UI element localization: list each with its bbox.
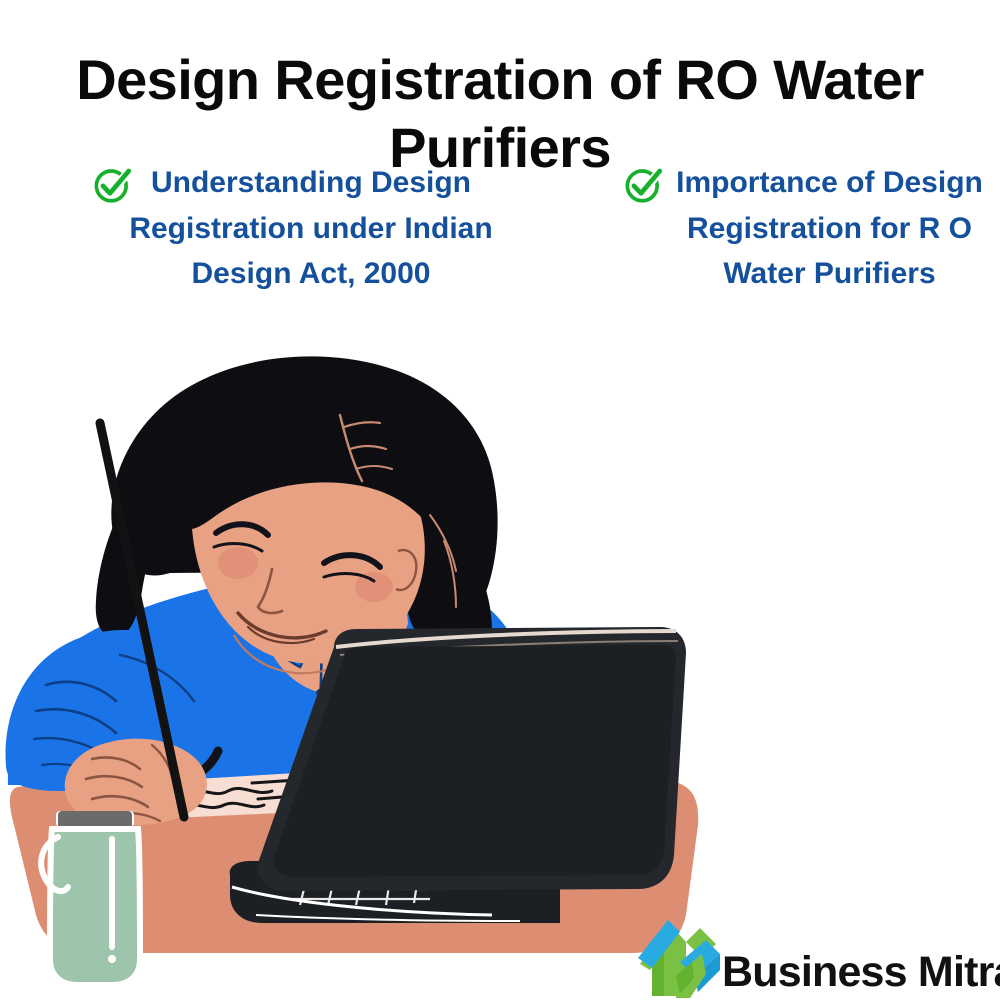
bullet-label: Importance of Design Registration for R …	[615, 160, 1000, 297]
business-mitra-mark-icon	[636, 918, 728, 1000]
hero-illustration	[0, 355, 1000, 1000]
poster-canvas: Design Registration of RO Water Purifier…	[0, 0, 1000, 1000]
check-circle-icon	[623, 164, 665, 206]
business-mitra-logo[interactable]: Business Mitra	[636, 916, 1000, 1000]
check-circle-icon	[92, 164, 134, 206]
water-bottle	[41, 811, 140, 985]
bullet-item-importance: Importance of Design Registration for R …	[615, 160, 1000, 297]
bullet-label: Understanding Design Registration under …	[88, 160, 498, 297]
logo-wordmark: Business Mitra	[722, 951, 1000, 1000]
bullet-item-understanding: Understanding Design Registration under …	[88, 160, 498, 297]
bullet-list: Understanding Design Registration under …	[0, 160, 1000, 370]
